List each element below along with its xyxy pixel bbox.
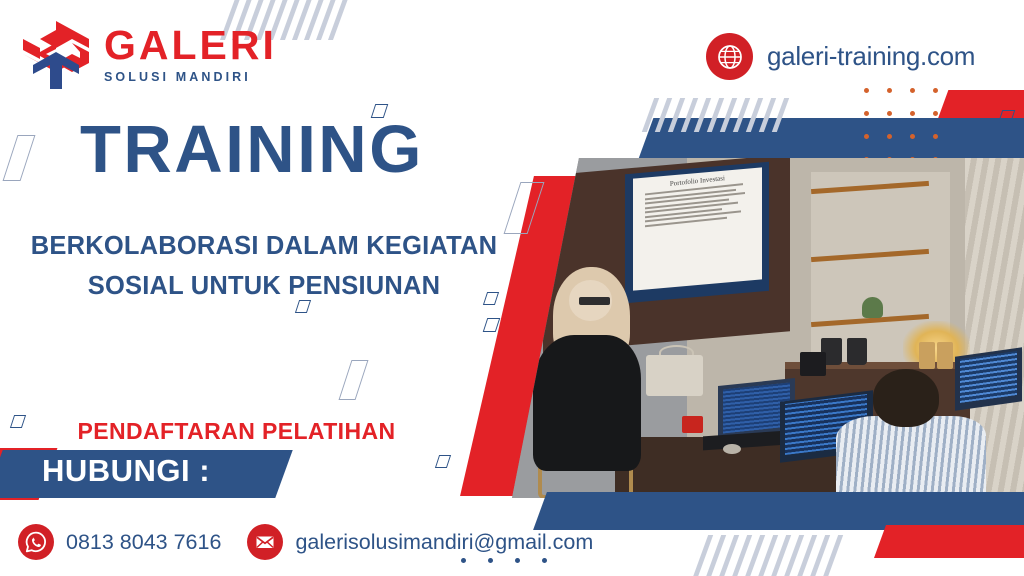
page-title: TRAINING [80, 116, 424, 183]
registration-label: PENDAFTARAN PELATIHAN [24, 418, 449, 445]
red-parallelogram-bottom-right [874, 525, 1024, 558]
promotional-banner: Portofolio Investasi [0, 0, 1024, 576]
brand-name: GALERI [104, 25, 277, 66]
diagonal-stripes-decor-bottom [700, 535, 835, 576]
outline-parallelogram-decor-7 [435, 455, 451, 468]
gs-hexagon-monogram-icon [18, 18, 94, 90]
projected-slide: Portofolio Investasi [633, 168, 762, 291]
contact-email[interactable]: galerisolusimandiri@gmail.com [247, 524, 593, 560]
dot-grid-decor [864, 88, 938, 162]
outline-parallelogram-decor-1 [3, 135, 36, 181]
contact-whatsapp[interactable]: 0813 8043 7616 [18, 524, 221, 560]
contact-list: 0813 8043 7616 galerisolusimandiri@gmail… [18, 524, 593, 560]
email-envelope-icon [247, 524, 283, 560]
whatsapp-icon [18, 524, 54, 560]
brand-tagline: SOLUSI MANDIRI [104, 70, 277, 84]
outline-parallelogram-decor-5 [339, 360, 369, 400]
page-subtitle: BERKOLABORASI DALAM KEGIATAN SOSIAL UNTU… [24, 226, 504, 307]
globe-icon [706, 33, 753, 80]
contact-email-value: galerisolusimandiri@gmail.com [295, 530, 593, 555]
diagonal-stripes-decor-above-photo [648, 98, 783, 132]
training-session-photo: Portofolio Investasi [512, 158, 1024, 498]
website-url: galeri-training.com [767, 41, 975, 72]
dots-decor-under-email [461, 558, 547, 563]
contact-phone-value: 0813 8043 7616 [66, 530, 221, 555]
website-link[interactable]: galeri-training.com [706, 33, 975, 80]
contact-banner-label: HUBUNGI : [42, 453, 210, 489]
brand-logo[interactable]: GALERI SOLUSI MANDIRI [18, 18, 277, 90]
